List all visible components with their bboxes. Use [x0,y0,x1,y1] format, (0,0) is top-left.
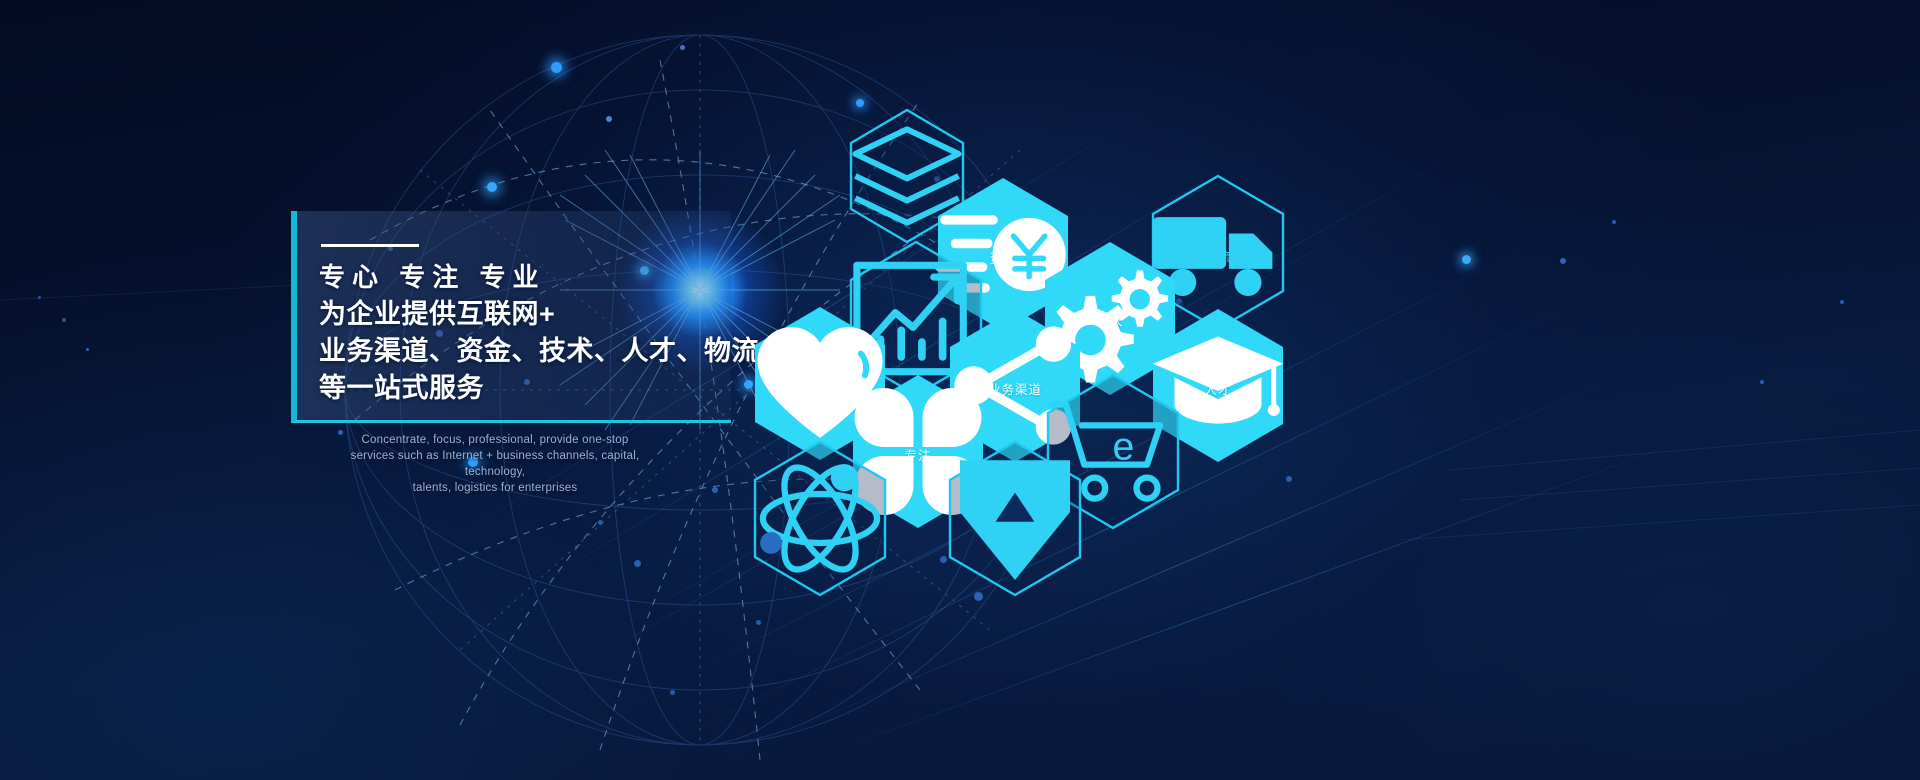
headline-line-4: 等一站式服务 [319,370,739,407]
banner-stage: 专心 专注 专业 为企业提供互联网+ 业务渠道、资金、技术、人才、物流 等一站式… [0,0,1920,780]
hex-pro[interactable]: 专业 [947,440,1083,597]
svg-text:e: e [1113,424,1135,468]
hexagon-cluster: 资金 物流 [720,100,1320,530]
headline-line-3: 业务渠道、资金、技术、人才、物流 [319,333,739,370]
headline-panel: 专心 专注 专业 为企业提供互联网+ 业务渠道、资金、技术、人才、物流 等一站式… [291,211,731,423]
subtitle-line-2: services such as Internet + business cha… [330,448,660,480]
headline-rule [321,244,419,247]
subtitle-line-3: talents, logistics for enterprises [330,480,660,496]
headline-line-1: 专心 专注 专业 [319,259,739,296]
headline-line-2: 为企业提供互联网+ [319,296,739,333]
subtitle-text: Concentrate, focus, professional, provid… [330,432,660,496]
subtitle-line-1: Concentrate, focus, professional, provid… [330,432,660,448]
headline-text: 专心 专注 专业 为企业提供互联网+ 业务渠道、资金、技术、人才、物流 等一站式… [319,259,739,407]
hex-atom[interactable] [752,440,888,597]
